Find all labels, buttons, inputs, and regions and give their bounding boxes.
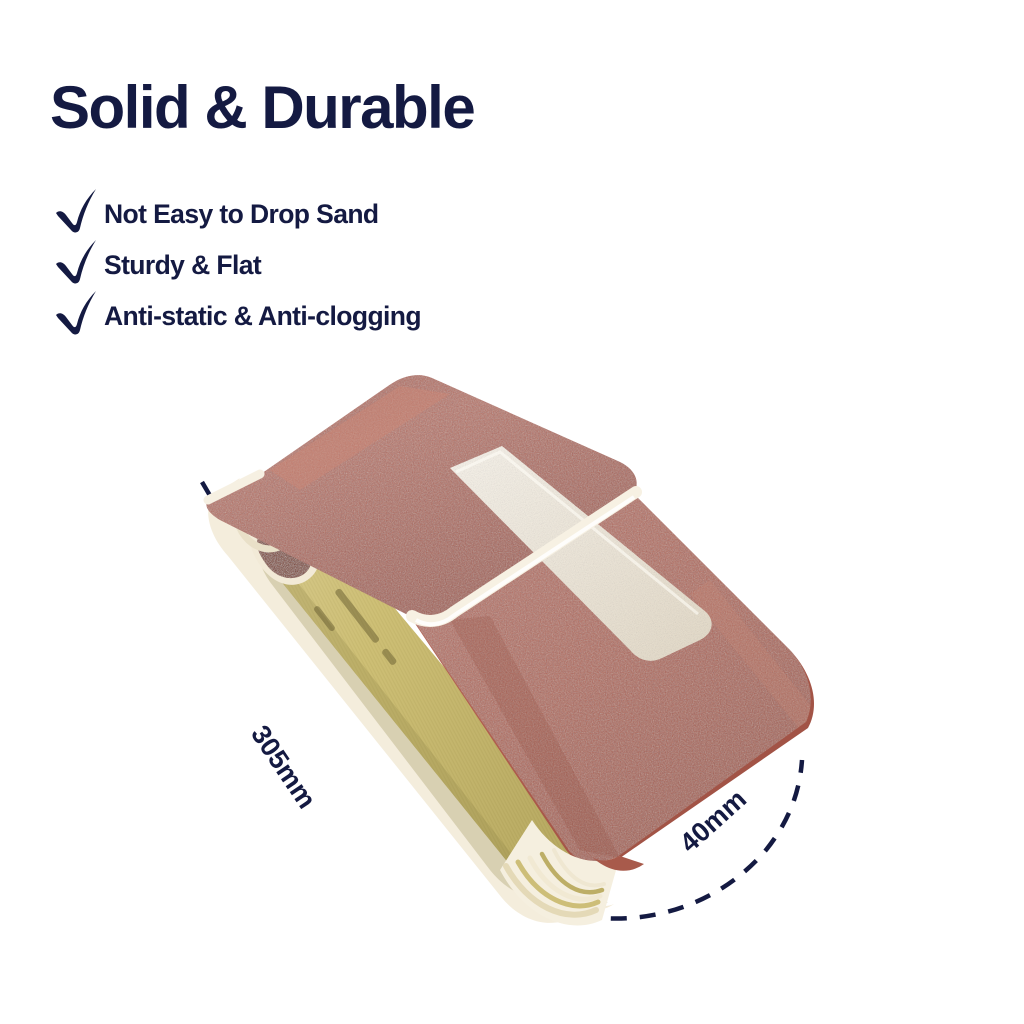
feature-label: Sturdy & Flat <box>104 250 261 281</box>
list-item: Anti-static & Anti-clogging <box>52 290 421 341</box>
feature-list: Not Easy to Drop Sand Sturdy & Flat Anti… <box>52 188 421 341</box>
page-title: Solid & Durable <box>50 78 474 138</box>
list-item: Not Easy to Drop Sand <box>52 188 421 239</box>
check-icon <box>52 242 104 288</box>
feature-label: Not Easy to Drop Sand <box>104 199 379 230</box>
check-icon <box>52 191 104 237</box>
list-item: Sturdy & Flat <box>52 239 421 290</box>
product-feature-card: Solid & Durable Not Easy to Drop Sand St… <box>0 0 1024 1024</box>
check-icon <box>52 293 104 339</box>
product-image-sanding-belt: 305mm 40mm <box>150 350 870 970</box>
feature-label: Anti-static & Anti-clogging <box>104 301 421 332</box>
